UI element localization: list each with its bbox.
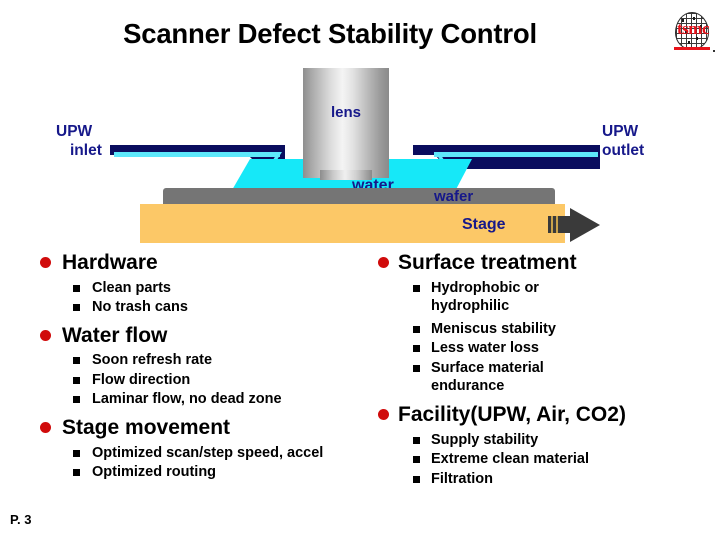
lens-bottom-element (320, 170, 372, 180)
wafer-label: wafer (434, 188, 473, 205)
bullet-sub-item[interactable]: Less water loss (376, 339, 712, 358)
bullet-sub-item-text: Filtration (431, 471, 493, 487)
page-title: Scanner Defect Stability Control (0, 18, 660, 50)
bullet-square-icon (413, 345, 420, 352)
upw-inlet-label: UPW inlet (56, 122, 102, 161)
bullet-dot-icon (40, 257, 51, 268)
registered-mark-icon (713, 50, 715, 52)
bullet-dot-icon (40, 422, 51, 433)
bullet-sub-item-text: Flow direction (92, 372, 190, 388)
lens-label: lens (303, 104, 389, 121)
stage-label: Stage (462, 216, 506, 234)
bullet-sub-item[interactable]: Meniscus stability (376, 320, 712, 339)
bullet-heading-text: Surface treatment (398, 251, 577, 274)
bullet-heading-text: Water flow (62, 324, 167, 347)
bullet-sub-item[interactable]: Extreme clean material (376, 450, 712, 469)
bullet-sub-item[interactable]: Flow direction (36, 371, 376, 390)
bullet-square-icon (413, 285, 420, 292)
bullet-group: HardwareClean partsNo trash cans (36, 250, 376, 317)
bullet-square-icon (73, 469, 80, 476)
stage-motion-arrow-icon (548, 208, 600, 242)
bullet-sub-item-text: No trash cans (92, 299, 188, 315)
bullet-sub-item-text: Hydrophobic or hydrophilic (431, 280, 539, 315)
bullet-heading-text: Stage movement (62, 416, 230, 439)
bullet-sub-item[interactable]: Optimized scan/step speed, accel (36, 444, 376, 463)
slide-canvas: Scanner Defect Stability Control tsmc wa… (0, 0, 720, 540)
bullet-sub-item-text: Laminar flow, no dead zone (92, 391, 282, 407)
upw-inlet-label-line1: UPW (56, 123, 92, 140)
bullet-sub-item[interactable]: Soon refresh rate (36, 351, 376, 370)
bullet-sub-item[interactable]: Hydrophobic or hydrophilic (376, 279, 601, 316)
bullet-sub-item-text: Meniscus stability (431, 321, 556, 337)
bullet-sub-item-text: Soon refresh rate (92, 352, 212, 368)
diagram: water lens UPW inlet UPW outlet wafer St… (0, 60, 720, 250)
bullet-sub-item[interactable]: No trash cans (36, 298, 376, 317)
bullet-sub-item[interactable]: Supply stability (376, 431, 712, 450)
lens-body (303, 68, 389, 178)
bullet-dot-icon (378, 409, 389, 420)
bullet-sub-item[interactable]: Clean parts (36, 279, 376, 298)
bullet-sub-item[interactable]: Filtration (376, 470, 712, 489)
logo-underline (674, 47, 710, 50)
tsmc-wordmark: tsmc (672, 20, 714, 37)
bullet-square-icon (73, 357, 80, 364)
bullet-sub-item-text: Extreme clean material (431, 451, 589, 467)
tsmc-logo: tsmc (672, 12, 716, 60)
bullet-sub-item[interactable]: Optimized routing (36, 463, 376, 482)
bullet-heading-text: Hardware (62, 251, 158, 274)
bullet-heading[interactable]: Surface treatment (376, 250, 712, 276)
bullet-square-icon (413, 326, 420, 333)
bullet-sub-item-text: Optimized scan/step speed, accel (92, 445, 323, 461)
upw-inlet-label-line2: inlet (70, 141, 102, 160)
bullet-heading[interactable]: Stage movement (36, 415, 376, 441)
bullet-sub-item-text: Clean parts (92, 280, 171, 296)
upw-outlet-channel (434, 152, 598, 157)
bullet-sub-item[interactable]: Surface material endurance (376, 359, 601, 396)
bullet-group: Surface treatmentHydrophobic or hydrophi… (376, 250, 712, 396)
bullet-dot-icon (378, 257, 389, 268)
bullet-square-icon (73, 304, 80, 311)
upw-outlet-label-line2: outlet (602, 141, 644, 160)
bullet-group: Facility(UPW, Air, CO2)Supply stabilityE… (376, 402, 712, 488)
bullet-square-icon (413, 476, 420, 483)
bullet-square-icon (73, 450, 80, 457)
bullet-column-right: Surface treatmentHydrophobic or hydrophi… (376, 250, 712, 494)
bullet-square-icon (413, 437, 420, 444)
bullet-heading-text: Facility(UPW, Air, CO2) (398, 403, 626, 426)
bullet-dot-icon (40, 330, 51, 341)
upw-inlet-channel (114, 152, 280, 157)
upw-outlet-label: UPW outlet (602, 122, 644, 161)
bullet-square-icon (413, 365, 420, 372)
bullet-square-icon (73, 396, 80, 403)
wafer-layer (163, 188, 555, 204)
bullet-heading[interactable]: Hardware (36, 250, 376, 276)
upw-outlet-label-line1: UPW (602, 123, 638, 140)
bullet-sub-item-text: Optimized routing (92, 464, 216, 480)
bullet-sub-item[interactable]: Laminar flow, no dead zone (36, 390, 376, 409)
bullet-heading[interactable]: Facility(UPW, Air, CO2) (376, 402, 712, 428)
bullet-column-left: HardwareClean partsNo trash cansWater fl… (36, 250, 376, 488)
bullet-sub-item-text: Less water loss (431, 340, 539, 356)
page-number: P. 3 (10, 512, 31, 527)
bullet-group: Water flowSoon refresh rateFlow directio… (36, 323, 376, 409)
bullet-sub-item-text: Surface material endurance (431, 360, 544, 395)
bullet-heading[interactable]: Water flow (36, 323, 376, 349)
bullet-square-icon (73, 377, 80, 384)
bullet-sub-item-text: Supply stability (431, 432, 538, 448)
bullet-group: Stage movementOptimized scan/step speed,… (36, 415, 376, 482)
bullet-square-icon (73, 285, 80, 292)
bullet-square-icon (413, 456, 420, 463)
